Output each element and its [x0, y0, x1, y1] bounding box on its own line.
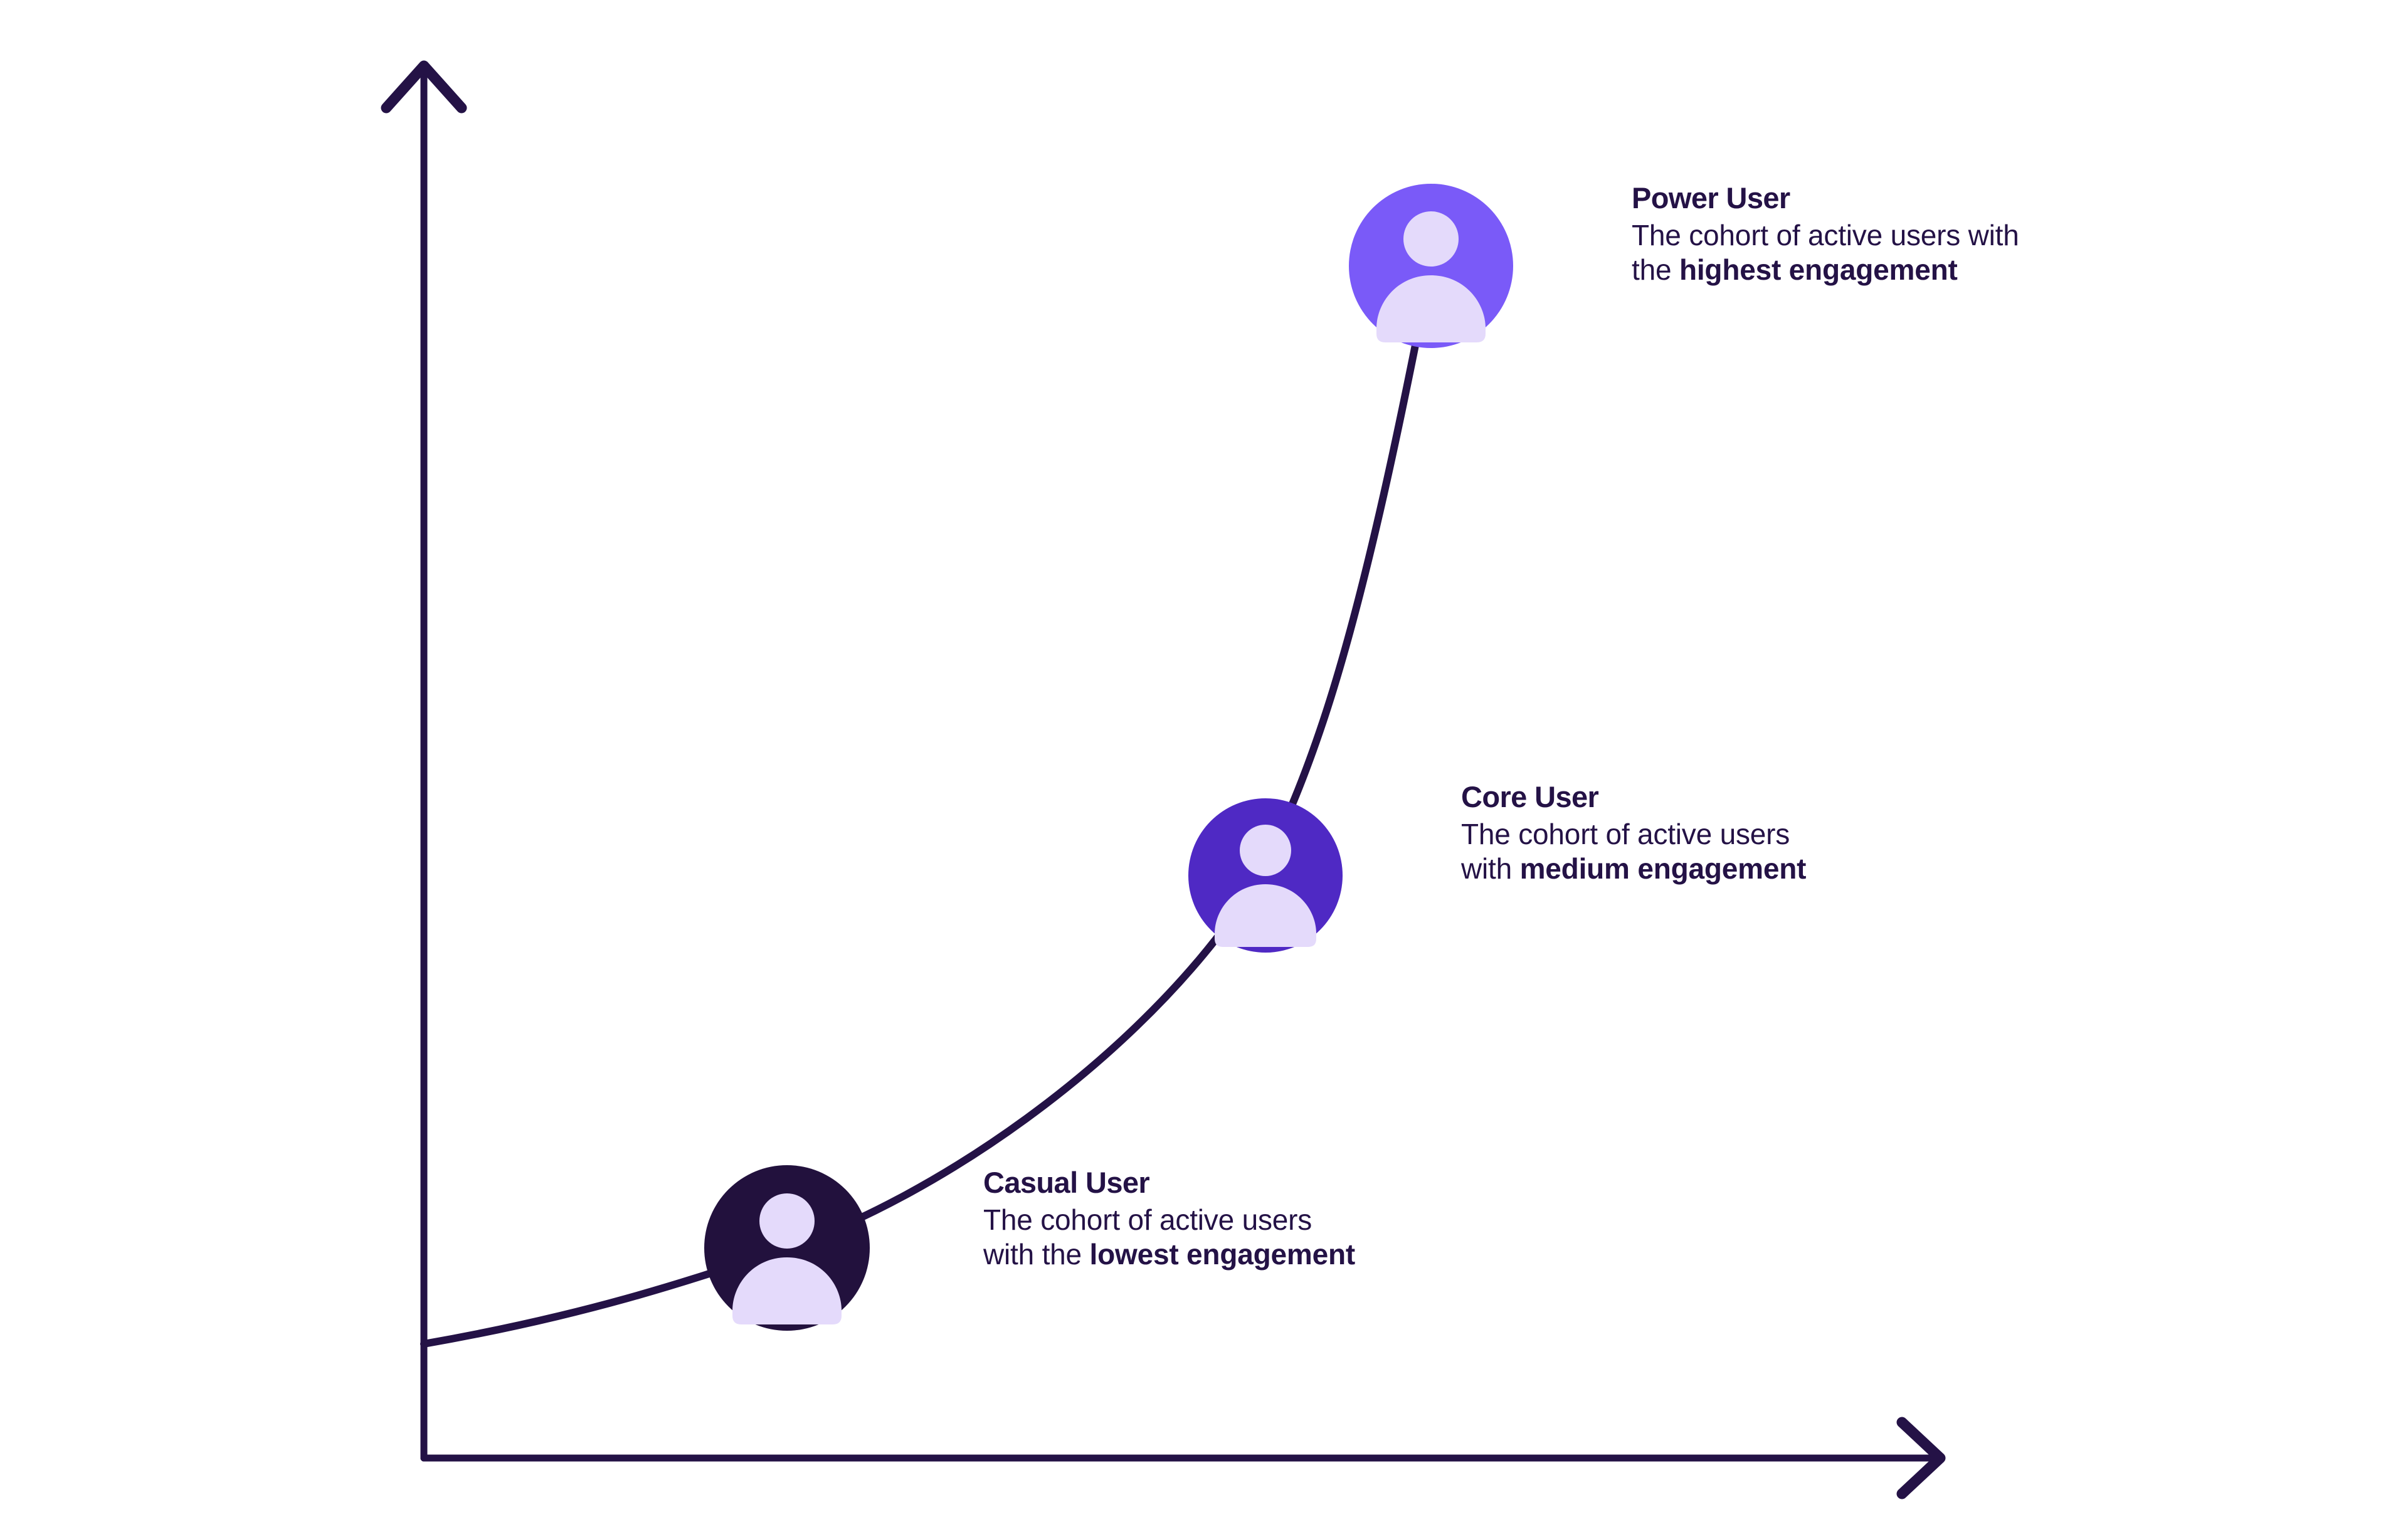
label-power-user: Power User The cohort of active users wi…: [1632, 181, 2046, 287]
node-casual[interactable]: [704, 1165, 870, 1331]
node-power[interactable]: [1349, 184, 1513, 348]
label-core-user: Core User The cohort of active users wit…: [1461, 779, 1837, 885]
horizontal-axis: [424, 1422, 1940, 1494]
core-user-title: Core User: [1461, 779, 1837, 814]
power-user-desc-emphasis: highest engagement: [1679, 253, 1958, 286]
casual-user-title: Casual User: [983, 1165, 1360, 1200]
core-user-description: The cohort of active users with medium e…: [1461, 817, 1837, 885]
casual-user-description: The cohort of active users with the lowe…: [983, 1203, 1360, 1271]
power-user-title: Power User: [1632, 181, 2046, 215]
power-user-description: The cohort of active users with the high…: [1632, 218, 2033, 287]
engagement-curve-diagram: Power User The cohort of active users wi…: [0, 0, 2408, 1522]
diagram-canvas: [0, 0, 2408, 1522]
vertical-axis: [386, 66, 462, 1458]
node-core[interactable]: [1188, 798, 1343, 953]
casual-user-desc-emphasis: lowest engagement: [1090, 1238, 1355, 1271]
label-casual-user: Casual User The cohort of active users w…: [983, 1165, 1360, 1271]
core-user-desc-emphasis: medium engagement: [1520, 852, 1807, 885]
